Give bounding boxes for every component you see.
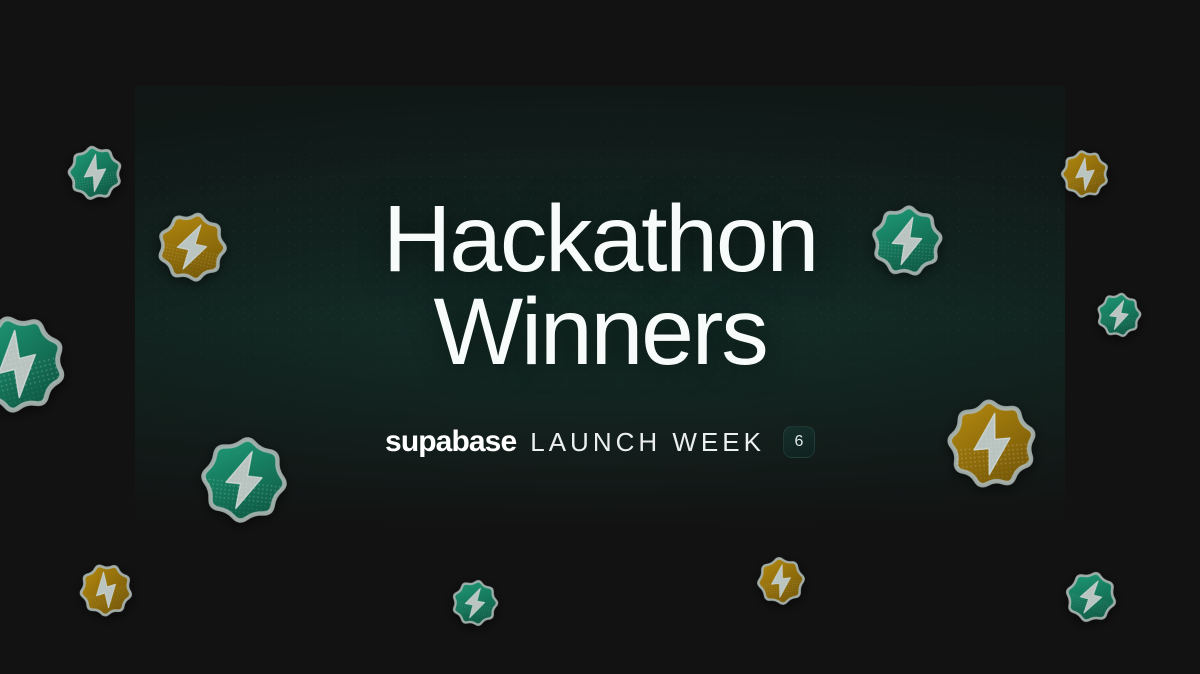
supabase-wordmark: supabase bbox=[385, 425, 516, 459]
title-line-1: Hackathon bbox=[383, 193, 817, 286]
page-title: Hackathon Winners bbox=[383, 193, 817, 379]
week-number-badge: 6 bbox=[783, 426, 815, 458]
launch-week-label: LAUNCH WEEK bbox=[530, 427, 765, 458]
launch-week-logo: supabase LAUNCH WEEK 6 bbox=[385, 425, 815, 459]
launch-week-hero-banner: Hackathon Winners supabase LAUNCH WEEK 6 bbox=[0, 0, 1200, 674]
title-line-2: Winners bbox=[383, 286, 817, 379]
hero-content: Hackathon Winners supabase LAUNCH WEEK 6 bbox=[0, 0, 1200, 674]
